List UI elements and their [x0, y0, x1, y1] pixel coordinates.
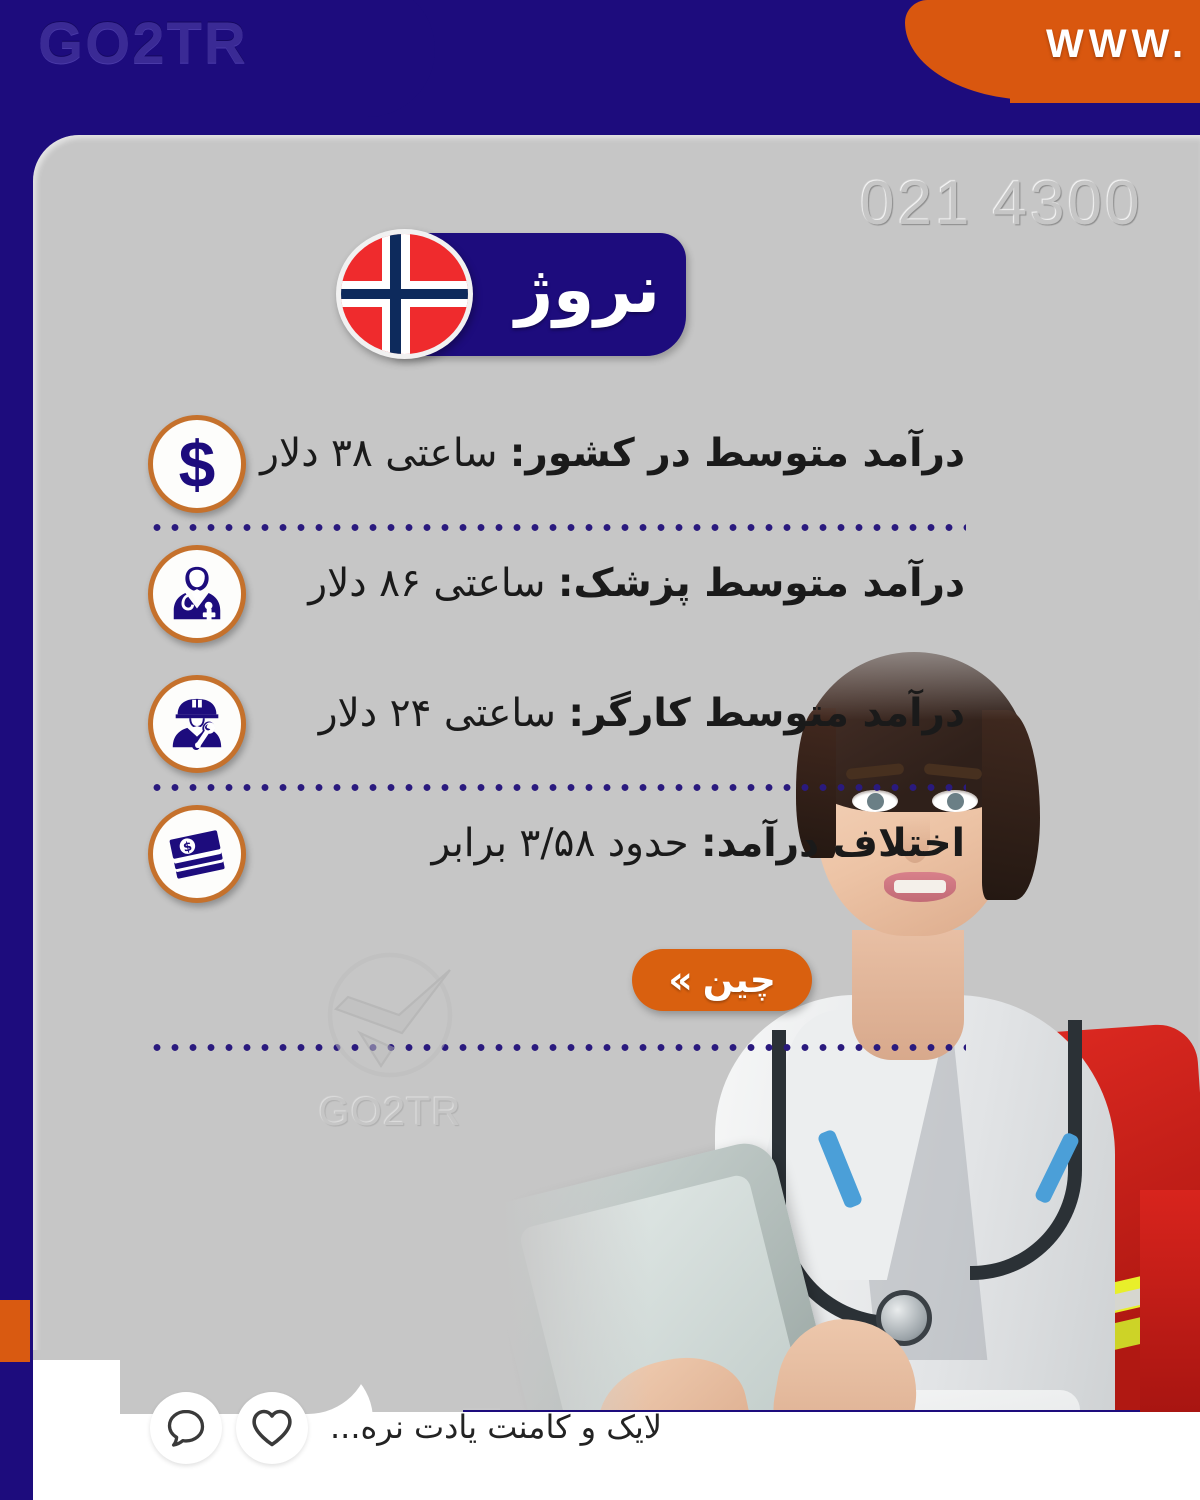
- country-badge: نروژ: [336, 229, 686, 359]
- doctor-glyph: [166, 563, 228, 625]
- stats-list: $ درآمد متوسط در کشور: ساعتی ۳۸ دلار: [140, 405, 965, 905]
- dollar-sign-icon: $: [148, 415, 246, 513]
- list-item: $ درآمد متوسط در کشور: ساعتی ۳۸ دلار: [140, 405, 965, 535]
- list-item: درآمد متوسط پزشک: ساعتی ۸۶ دلار: [140, 535, 965, 665]
- left-rail-orange-accent: [0, 1300, 30, 1362]
- comment-bubble-icon[interactable]: [150, 1392, 222, 1464]
- row-4-text: اختلاف درآمد: حدود ۳/۵۸ برابر: [275, 821, 965, 866]
- list-item: درآمد متوسط کارگر: ساعتی ۲۴ دلار: [140, 665, 965, 795]
- flag-blue-horizontal: [341, 289, 468, 300]
- money-stack-glyph: $: [166, 823, 228, 885]
- row-2-text: درآمد متوسط پزشک: ساعتی ۸۶ دلار: [275, 561, 965, 606]
- heart-icon[interactable]: [236, 1392, 308, 1464]
- row-4-value: حدود ۳/۵۸ برابر: [431, 821, 688, 866]
- row-divider: [148, 523, 966, 532]
- row-3-label: درآمد متوسط کارگر:: [568, 691, 965, 736]
- row-3-value: ساعتی ۲۴ دلار: [319, 691, 556, 736]
- cta-label: چین: [703, 960, 776, 1001]
- row-2-label: درآمد متوسط پزشک:: [558, 561, 965, 606]
- norway-flag-inner: [341, 234, 468, 354]
- infographic-canvas: 021 4300: [0, 0, 1200, 1500]
- row-4-label: اختلاف درآمد:: [701, 821, 965, 866]
- brand-logo-pill: GO2TR: [0, 0, 435, 117]
- row-1-label: درآمد متوسط در کشور:: [510, 431, 965, 476]
- country-name: نروژ: [515, 245, 660, 334]
- phone-number-watermark: 021 4300: [860, 168, 1143, 239]
- row-1-text: درآمد متوسط در کشور: ساعتی ۳۸ دلار: [275, 431, 965, 476]
- hair-right-side: [982, 710, 1040, 900]
- brand-logo-label: GO2TR: [38, 10, 248, 77]
- plane-circle-logo-icon: [315, 940, 465, 1090]
- watermark-label: GO2TR: [300, 1090, 480, 1135]
- row-1-value: ساعتی ۳۸ دلار: [260, 431, 497, 476]
- website-url: WWW.: [1046, 22, 1188, 67]
- next-country-button[interactable]: چین »: [632, 949, 812, 1011]
- dollar-glyph: $: [179, 431, 216, 497]
- right-edge-jacket-strip: [1140, 1190, 1200, 1412]
- list-item: $ اختلاف درآمد: حدود ۳/۵۸ برابر: [140, 795, 965, 905]
- row-3-text: درآمد متوسط کارگر: ساعتی ۲۴ دلار: [275, 691, 965, 736]
- comment-glyph: [164, 1406, 208, 1450]
- worker-glyph: [166, 693, 228, 755]
- row-2-value: ساعتی ۸۶ دلار: [308, 561, 545, 606]
- heart-glyph: [250, 1406, 294, 1450]
- go2tr-watermark: GO2TR: [300, 940, 480, 1130]
- worker-hardhat-icon: [148, 675, 246, 773]
- social-actions: [150, 1392, 308, 1464]
- money-stack-icon: $: [148, 805, 246, 903]
- doctor-icon: [148, 545, 246, 643]
- row-divider: [148, 1043, 966, 1052]
- footer-cta-text: لایک و کامنت یادت نره...: [330, 1408, 662, 1446]
- double-chevron-left-icon: »: [668, 961, 693, 999]
- norway-flag-icon: [336, 229, 473, 359]
